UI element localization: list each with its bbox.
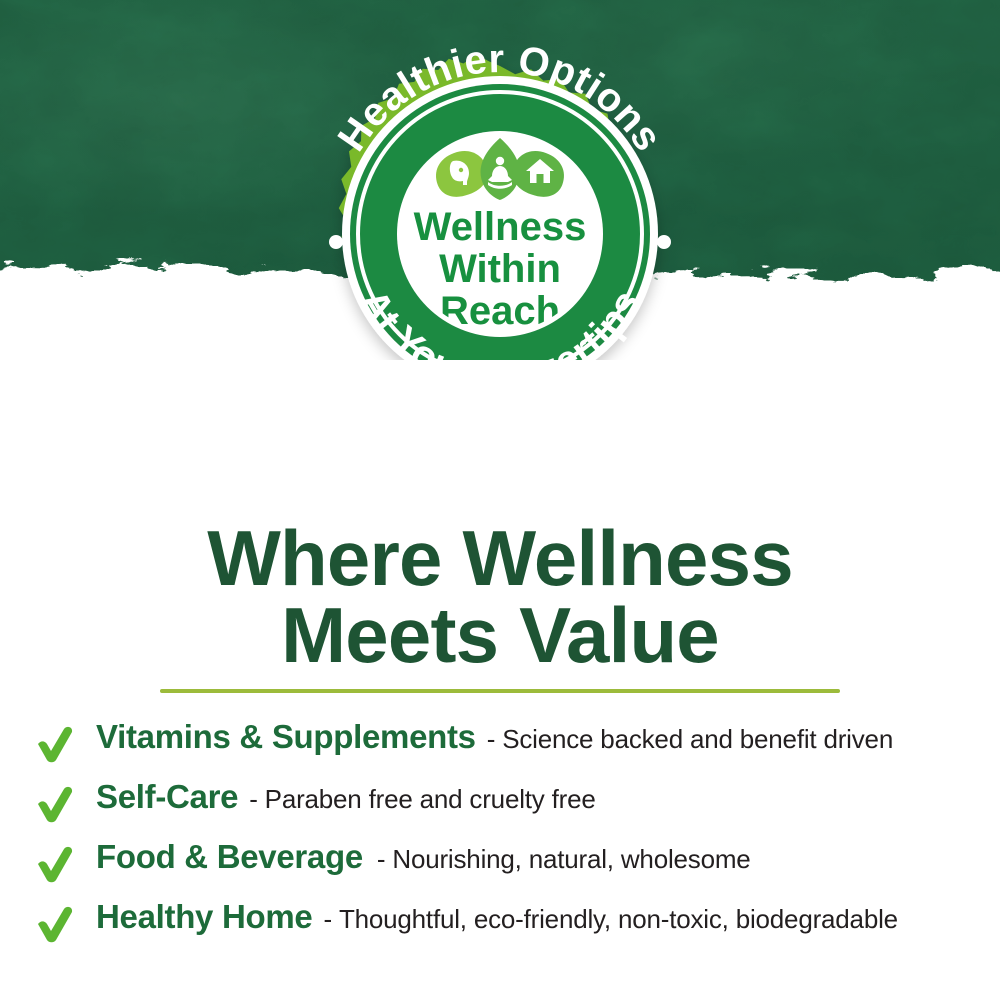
- wellness-seal-badge: Healthier Options At Your Fingertips: [298, 62, 702, 406]
- benefit-text: Healthy Home - Thoughtful, eco-friendly,…: [96, 898, 898, 936]
- title-divider: [160, 689, 840, 693]
- content-section: Where Wellness Meets Value Vitamins & Su…: [0, 360, 1000, 1000]
- benefit-text: Vitamins & Supplements - Science backed …: [96, 718, 893, 756]
- benefit-text: Food & Beverage - Nourishing, natural, w…: [96, 838, 751, 876]
- list-item: Food & Beverage - Nourishing, natural, w…: [0, 838, 1000, 898]
- benefit-description: Science backed and benefit driven: [502, 724, 893, 755]
- benefit-title: Healthy Home: [96, 898, 312, 936]
- benefit-title: Food & Beverage: [96, 838, 363, 876]
- seal-core-line-2: Within: [439, 247, 561, 291]
- list-item: Self-Care - Paraben free and cruelty fre…: [0, 778, 1000, 838]
- seal-core-line-1: Wellness: [414, 205, 587, 249]
- benefit-description: Thoughtful, eco-friendly, non-toxic, bio…: [339, 904, 898, 935]
- promo-page: Healthier Options At Your Fingertips: [0, 0, 1000, 1000]
- check-icon: [34, 724, 76, 766]
- check-icon: [34, 904, 76, 946]
- benefit-text: Self-Care - Paraben free and cruelty fre…: [96, 778, 596, 816]
- benefit-title: Vitamins & Supplements: [96, 718, 476, 756]
- benefit-separator: -: [323, 904, 331, 935]
- list-item: Vitamins & Supplements - Science backed …: [0, 718, 1000, 778]
- page-title: Where Wellness Meets Value: [0, 520, 1000, 674]
- benefit-title: Self-Care: [96, 778, 238, 816]
- check-icon: [34, 844, 76, 886]
- benefit-description: Nourishing, natural, wholesome: [392, 844, 750, 875]
- benefit-separator: -: [377, 844, 385, 875]
- benefit-separator: -: [249, 784, 257, 815]
- seal-right-dot: [657, 235, 671, 249]
- benefits-list: Vitamins & Supplements - Science backed …: [0, 718, 1000, 958]
- page-title-line-2: Meets Value: [0, 597, 1000, 674]
- page-title-line-1: Where Wellness: [0, 520, 1000, 597]
- list-item: Healthy Home - Thoughtful, eco-friendly,…: [0, 898, 1000, 958]
- check-icon: [34, 784, 76, 826]
- benefit-description: Paraben free and cruelty free: [265, 784, 596, 815]
- benefit-separator: -: [487, 724, 495, 755]
- seal-left-dot: [329, 235, 343, 249]
